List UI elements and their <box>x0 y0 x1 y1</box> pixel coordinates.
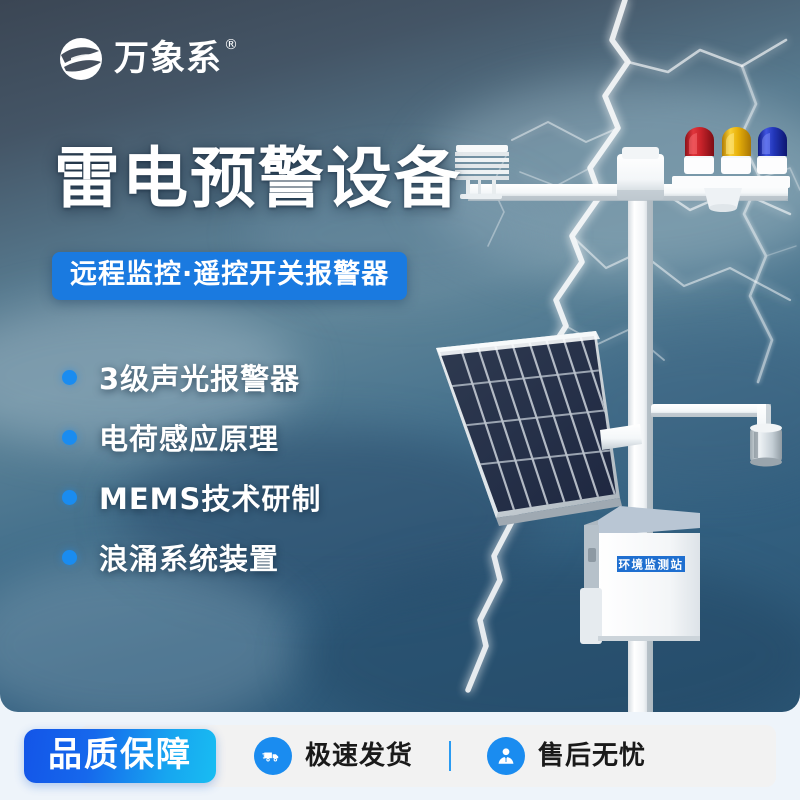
page-title: 雷电预警设备 <box>54 146 462 212</box>
bullet-dot-icon <box>62 430 77 445</box>
after-sales-item: 售后无忧 <box>487 737 646 775</box>
feature-label: 3级声光报警器 <box>99 356 300 398</box>
blue-alarm-beacon <box>757 127 787 174</box>
fast-shipping-label: 极速发货 <box>305 743 413 769</box>
fast-shipping-item: 极速发货 <box>254 737 413 775</box>
list-item: 3级声光报警器 <box>62 348 321 406</box>
after-sales-label: 售后无忧 <box>538 743 646 769</box>
brand-name-text: 万象系 <box>114 39 222 79</box>
brand-logo: 万象系® <box>58 36 222 82</box>
red-alarm-beacon <box>684 127 714 174</box>
feature-label: MEMS技术研制 <box>99 476 321 518</box>
list-item: 电荷感应原理 <box>62 408 321 466</box>
camera-arm-sensor <box>651 404 782 467</box>
feature-label: 浪涌系统装置 <box>99 536 279 578</box>
delivery-truck-icon <box>254 737 292 775</box>
bullet-dot-icon <box>62 490 77 505</box>
bullet-dot-icon <box>62 370 77 385</box>
subtitle-banner: 远程监控·遥控开关报警器 <box>52 252 407 300</box>
bullet-dot-icon <box>62 550 77 565</box>
footer-divider <box>449 741 451 771</box>
feature-list: 3级声光报警器 电荷感应原理 MEMS技术研制 浪涌系统装置 <box>62 348 321 588</box>
quality-guarantee-badge: 品质保障 <box>24 729 216 783</box>
list-item: 浪涌系统装置 <box>62 528 321 586</box>
solar-panel <box>434 320 642 526</box>
registered-trademark-icon: ® <box>224 38 239 52</box>
control-cabinet: 环境监测站 <box>580 506 700 644</box>
product-poster: 环境监测站 万象系® 雷电预警设备 远程监控·遥控开关报警器 <box>0 0 800 800</box>
customer-service-person-icon <box>487 737 525 775</box>
brand-name: 万象系® <box>114 42 222 77</box>
globe-swoosh-logo-icon <box>58 36 104 82</box>
feature-label: 电荷感应原理 <box>99 416 279 458</box>
hero-image-area: 环境监测站 万象系® 雷电预警设备 远程监控·遥控开关报警器 <box>0 0 800 712</box>
yellow-alarm-beacon <box>721 127 751 174</box>
service-guarantee-bar: 品质保障 极速发货 <box>0 712 800 800</box>
beacon-base-plate <box>672 176 790 188</box>
list-item: MEMS技术研制 <box>62 468 321 526</box>
cabinet-label-text: 环境监测站 <box>619 558 684 572</box>
